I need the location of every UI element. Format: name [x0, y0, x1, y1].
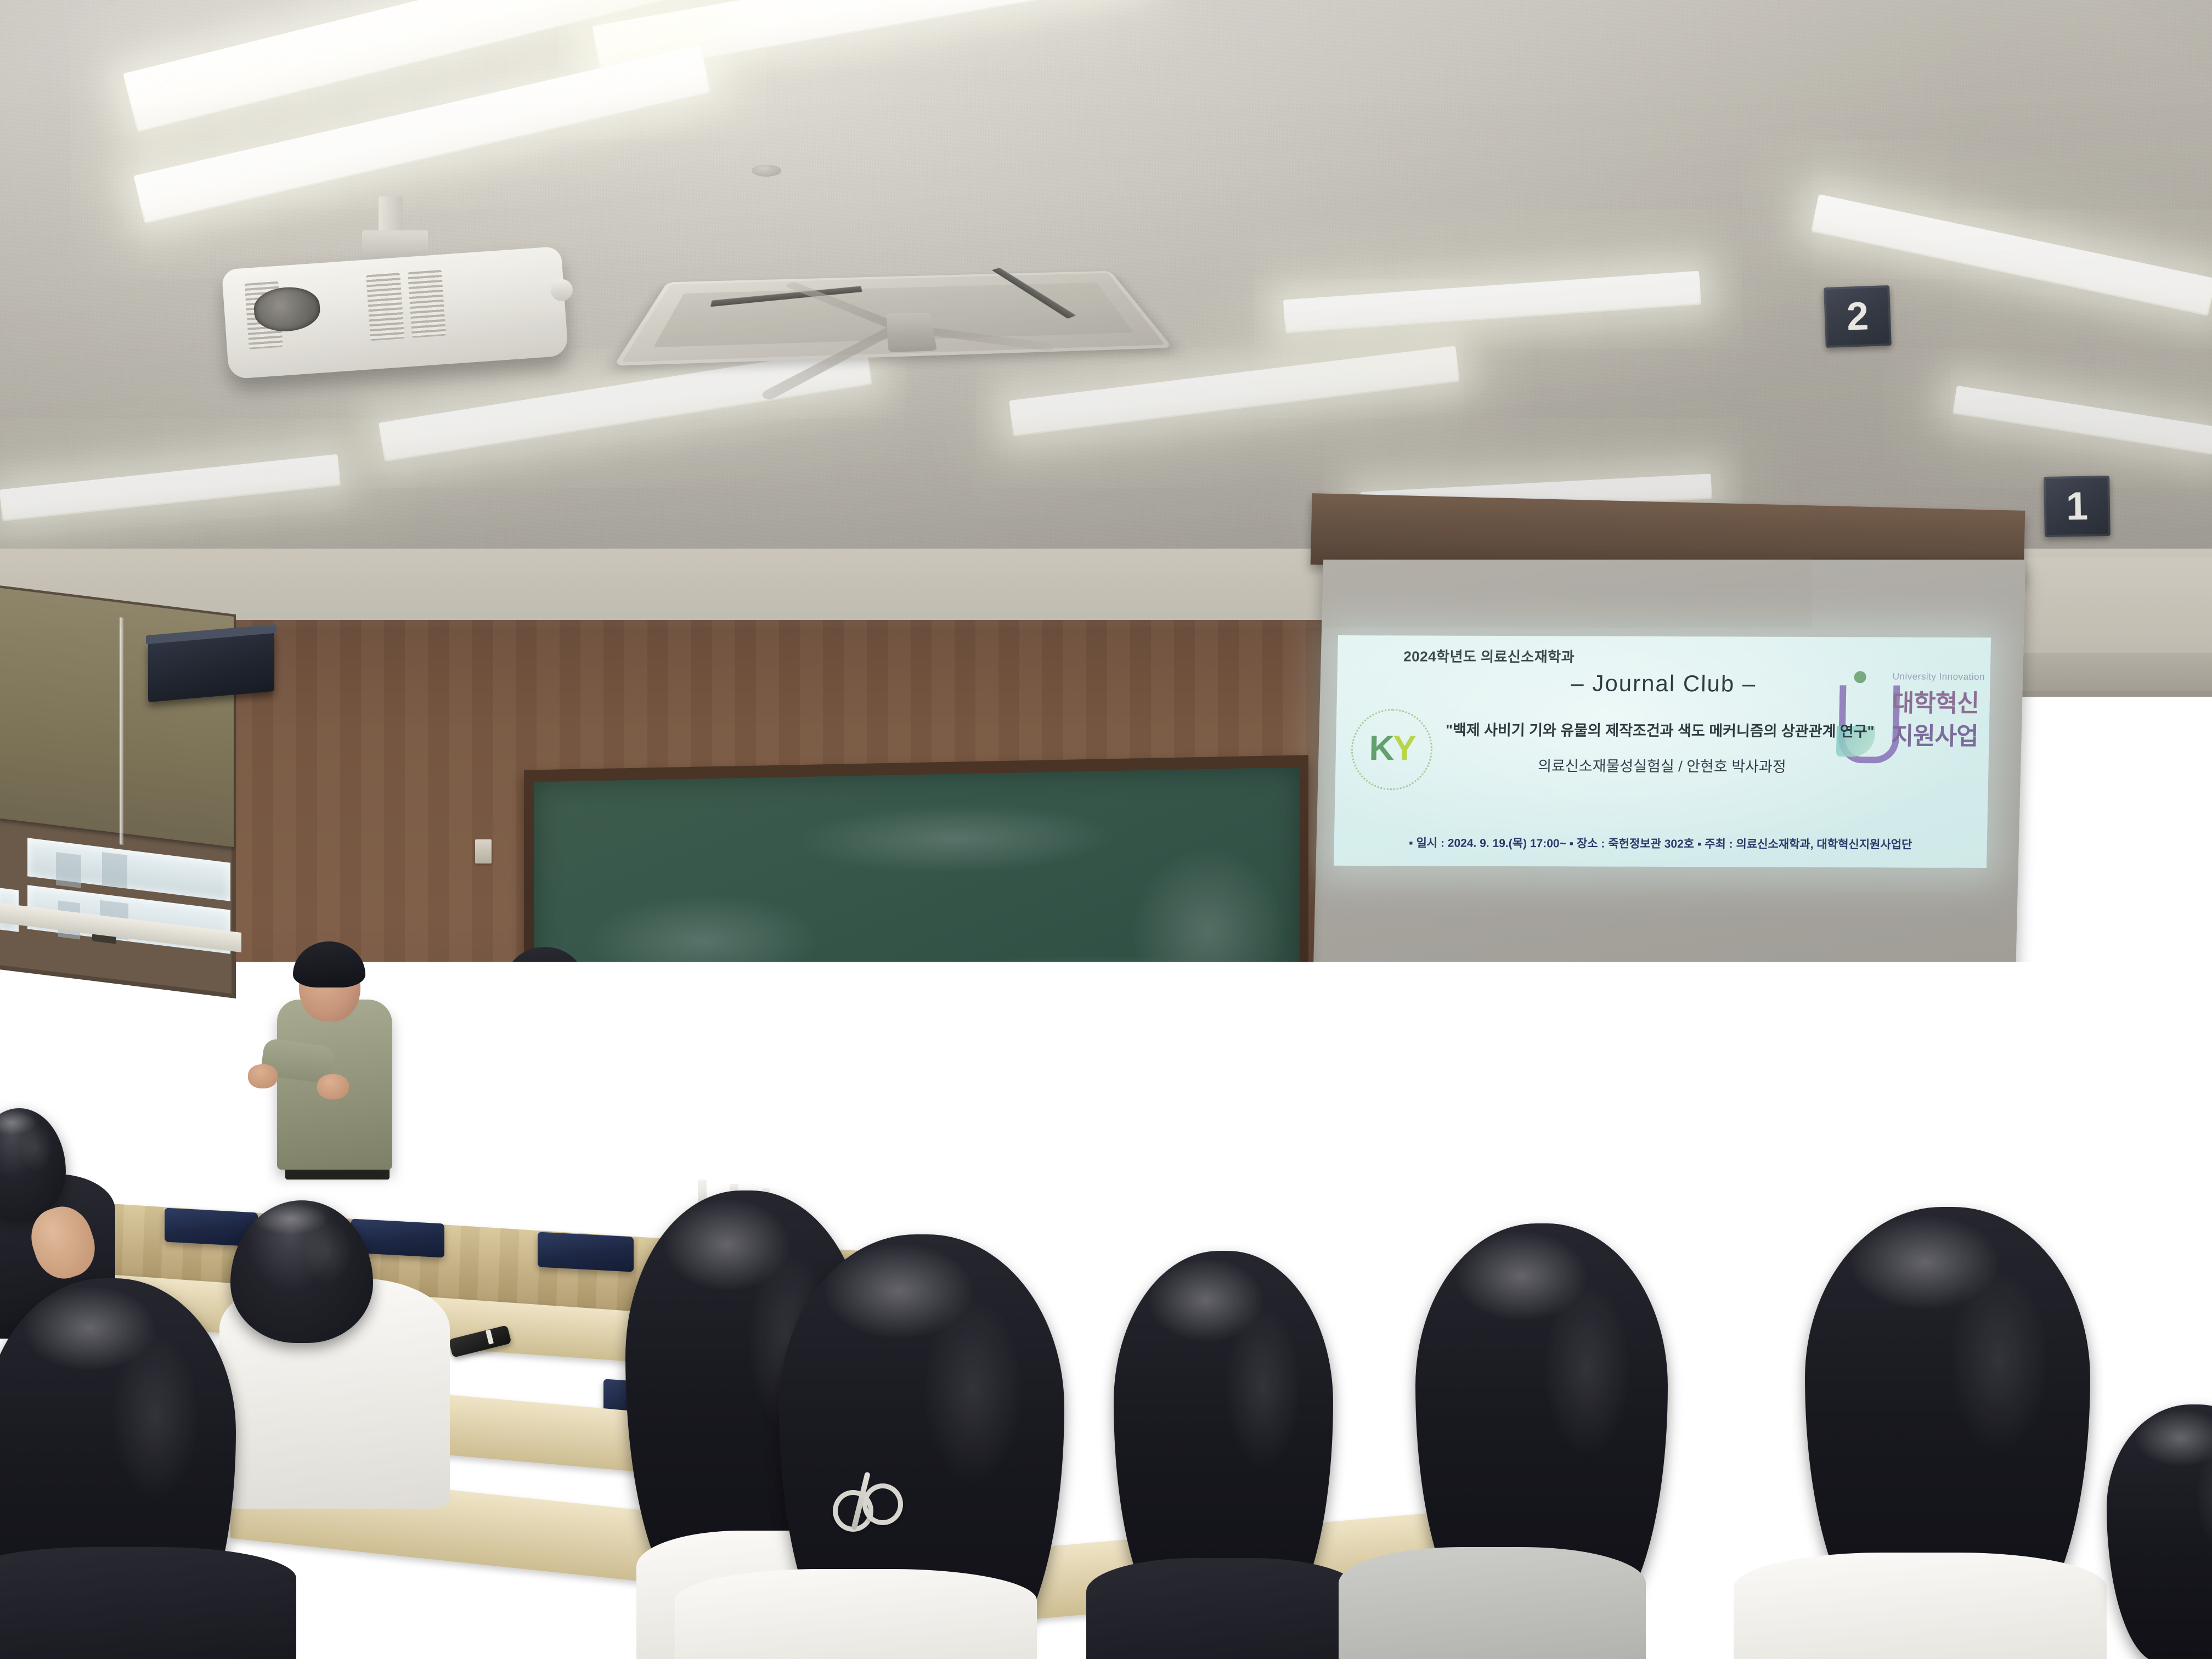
lecture-hall-photo: 2 1 KY — [0, 0, 2212, 1659]
equipment-case-label — [2038, 1175, 2120, 1182]
lectern-round-detail — [131, 1080, 171, 1120]
window-building-outside — [56, 852, 81, 888]
chalk-piece[interactable] — [1171, 1059, 1188, 1068]
ceiling-sign-1: 1 — [2044, 476, 2111, 537]
stage-table-leg — [652, 1113, 661, 1217]
assistant-hand-right — [317, 1074, 349, 1099]
chalk-residue — [534, 768, 1300, 1077]
bow-hair-clip — [833, 1481, 899, 1531]
chalkboard — [534, 768, 1300, 1077]
window-building-outside — [102, 852, 127, 888]
audience-member-torso — [1734, 1553, 2107, 1659]
stage-table-crossbar — [654, 1166, 786, 1173]
smartwatch-face — [611, 1137, 627, 1152]
glasses-lens-left — [509, 986, 537, 1003]
equipment-case-lid — [2034, 1158, 2138, 1166]
audience-long-hair — [165, 1514, 472, 1659]
slide-title: – Journal Club – — [1337, 669, 1990, 698]
ceiling-sign-1-label: 1 — [2066, 484, 2088, 529]
blind-seam — [120, 617, 123, 845]
window-roller-blind[interactable] — [0, 588, 234, 847]
stage-table — [636, 1090, 796, 1116]
wall-switch-plate[interactable] — [475, 839, 492, 864]
slide-event-details: ▪ 일시 : 2024. 9. 19.(목) 17:00~ ▪ 장소 : 죽헌정… — [1334, 834, 1987, 853]
ceiling-sign-2: 2 — [1824, 285, 1892, 348]
lectern-control-display[interactable] — [181, 1131, 252, 1143]
chalkboard-frame — [524, 755, 1308, 1110]
ceiling-sign-2-label: 2 — [1846, 294, 1870, 339]
microphone-head — [473, 1046, 496, 1068]
presenter-belt-buckle — [505, 1209, 524, 1221]
assistant-glasses — [297, 978, 354, 990]
audience-member-torso — [675, 1569, 1037, 1659]
seat-back[interactable] — [538, 1232, 634, 1272]
presenter-glasses — [509, 986, 574, 1001]
glasses-lens-right — [546, 986, 574, 1003]
audience-member-torso — [1086, 1558, 1361, 1659]
audience-member-torso — [1339, 1547, 1646, 1659]
presenter-hand-right — [599, 1152, 631, 1190]
chalkboard-eraser[interactable] — [699, 1063, 731, 1078]
slide-lab-and-presenter: 의료신소재물성실험실 / 안현호 박사과정 — [1335, 753, 1989, 777]
presenter-hand-left — [465, 1131, 499, 1173]
equipment-case — [2030, 1163, 2140, 1215]
assistant-hand-left — [248, 1064, 278, 1088]
wall-speaker — [148, 631, 274, 702]
projected-slide: KY University Innovation 대학혁신 지원사업 2024학… — [1334, 635, 1991, 868]
seat-back[interactable] — [1328, 1252, 1421, 1292]
slide-research-title: "백제 사비기 기와 유물의 제작조건과 색도 메커니즘의 상관관계 연구" — [1413, 718, 1907, 741]
stage-chair — [383, 1112, 467, 1140]
bow-clip-loop — [862, 1483, 903, 1525]
chalk-piece[interactable] — [831, 1065, 853, 1075]
slide-department-year: 2024학년도 의료신소재학과 — [1403, 645, 1575, 666]
hair-highlight — [165, 1514, 472, 1659]
